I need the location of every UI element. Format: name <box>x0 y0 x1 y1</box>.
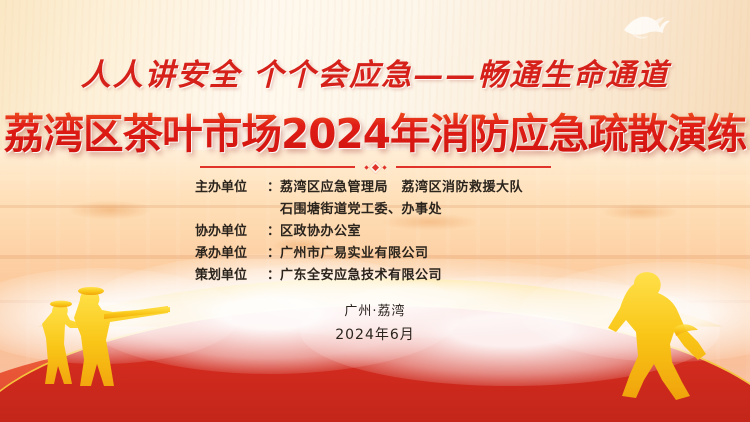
credit-value: 广东全安应急技术有限公司 <box>280 264 555 283</box>
ornament-diamond <box>369 161 382 174</box>
credit-label: 承办单位 <box>195 242 267 261</box>
credit-row: 策划单位 ： 广东全安应急技术有限公司 <box>195 264 555 283</box>
credit-value: 荔湾区应急管理局 荔湾区消防救援大队 <box>280 176 555 195</box>
credit-row: 协办单位 ： 区政协办公室 <box>195 220 555 239</box>
divider-rule-right <box>396 166 551 168</box>
date-text: 2024年6月 <box>0 324 750 344</box>
footer-block: 广州·荔湾 2024年6月 <box>0 300 750 344</box>
credit-value: 区政协办公室 <box>280 220 555 239</box>
dove-icon <box>618 10 672 44</box>
diamond-ornament-icon <box>365 163 386 172</box>
credit-label: 协办单位 <box>195 220 267 239</box>
credit-label: 主办单位 <box>195 176 267 195</box>
slogan-text: 人人讲安全 个个会应急——畅通生命通道 <box>0 50 750 94</box>
ornament-dot <box>364 165 368 169</box>
credits-block: 主办单位 ： 荔湾区应急管理局 荔湾区消防救援大队 主办单位 ： 石围塘街道党工… <box>0 176 750 286</box>
poster-banner: 人人讲安全 个个会应急——畅通生命通道 荔湾区茶叶市场2024年消防应急疏散演练… <box>0 0 750 422</box>
credit-colon: ： <box>267 176 280 195</box>
credit-colon: ： <box>267 220 280 239</box>
credit-label: 策划单位 <box>195 264 267 283</box>
credit-row: 主办单位 ： 石围塘街道党工委、办事处 <box>195 198 555 217</box>
page-title: 荔湾区茶叶市场2024年消防应急疏散演练 <box>4 100 747 160</box>
decorative-divider <box>0 160 750 174</box>
credit-colon: ： <box>267 264 280 283</box>
divider-rule-left <box>200 166 355 168</box>
location-text: 广州·荔湾 <box>0 300 750 319</box>
credit-value: 石围塘街道党工委、办事处 <box>280 198 555 217</box>
ornament-dot <box>382 165 386 169</box>
credit-value: 广州市广易实业有限公司 <box>280 242 555 261</box>
credit-row: 承办单位 ： 广州市广易实业有限公司 <box>195 242 555 261</box>
credit-row: 主办单位 ： 荔湾区应急管理局 荔湾区消防救援大队 <box>195 176 555 195</box>
credit-colon: ： <box>267 242 280 261</box>
